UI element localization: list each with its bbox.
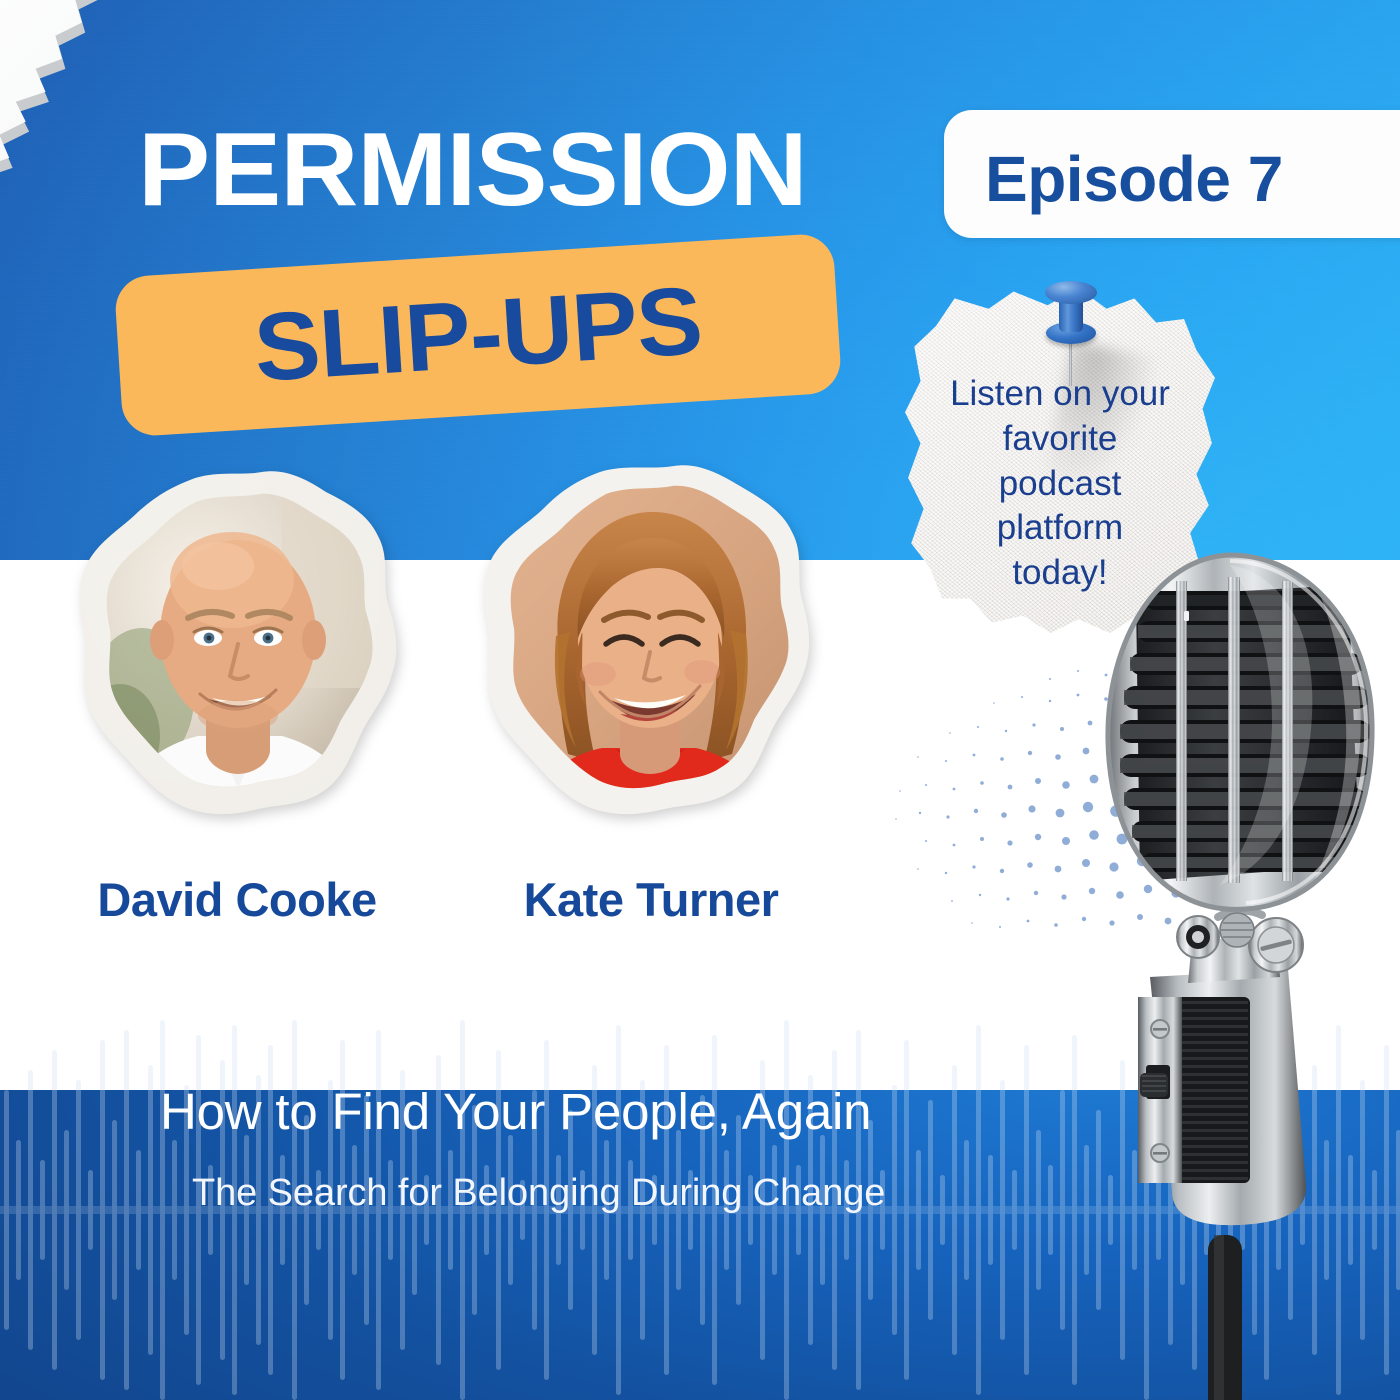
torn-photo-frame	[72, 468, 402, 820]
episode-title: How to Find Your People, Again	[160, 1082, 871, 1141]
pushpin-icon	[1038, 276, 1102, 380]
podcast-cover-art: PERMISSION SLIP-UPS Episode 7	[0, 0, 1400, 1400]
episode-subtitle: The Search for Belonging During Change	[192, 1172, 885, 1215]
pushpin-cap	[1045, 281, 1097, 304]
podcast-title-line1: PERMISSION	[138, 118, 807, 222]
host-photo-kate-turner	[474, 462, 824, 822]
host-photo-david-cooke	[72, 468, 402, 820]
vintage-microphone-icon	[1080, 545, 1400, 1400]
episode-badge-label: Episode 7	[985, 142, 1283, 216]
note-line-3: podcast	[925, 462, 1195, 507]
host-name-david-cooke: David Cooke	[72, 872, 402, 927]
note-line-2: favorite	[925, 417, 1195, 462]
torn-photo-frame	[474, 462, 824, 822]
host-name-kate-turner: Kate Turner	[486, 872, 816, 927]
